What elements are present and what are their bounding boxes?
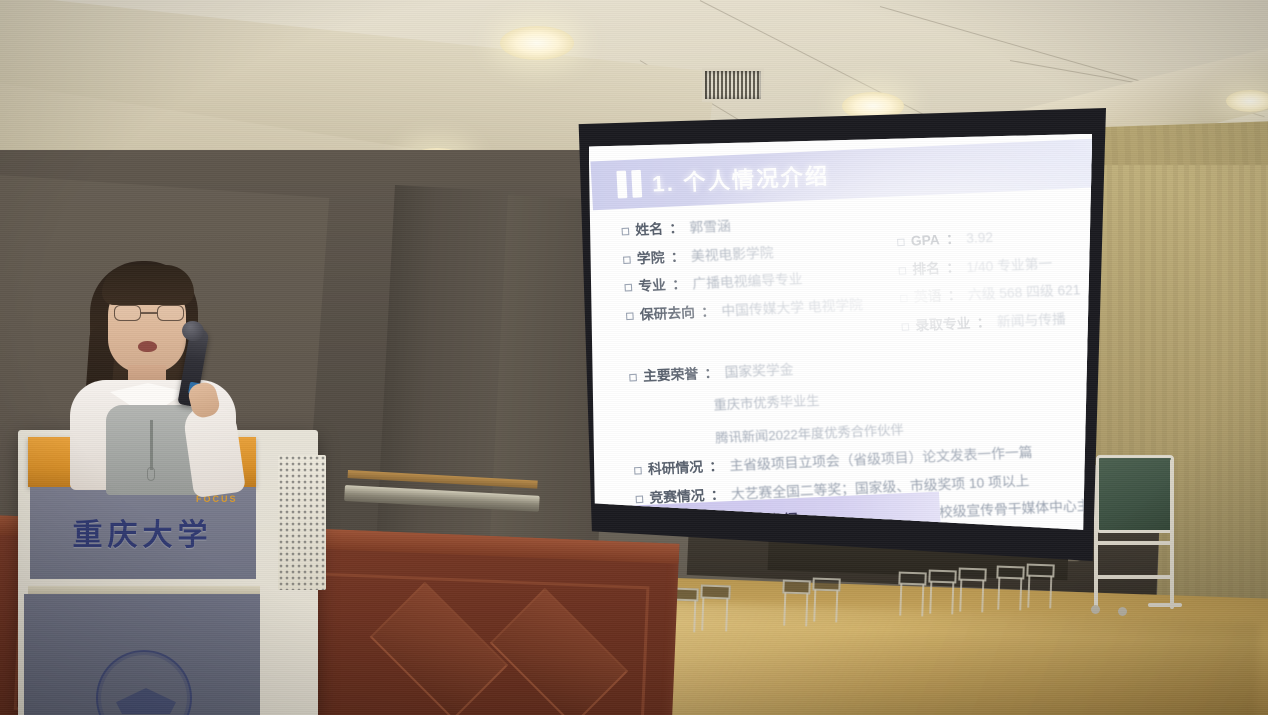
slide-left-column: 姓名 ： 郭雪涵 学院 ： 美视电影学院 xyxy=(621,212,888,360)
slide-honor-item: 腾讯新闻2022年度优秀合作伙伴 xyxy=(714,408,1092,446)
podium-divider xyxy=(28,586,260,594)
slide-bullet: 专业 ： 广播电视编导专业 xyxy=(624,268,884,294)
hair-fringe xyxy=(102,265,194,305)
projection-screen: 1. 个人情况介绍 姓名 ： 郭雪涵 xyxy=(576,108,1106,568)
slide-title: 1. 个人情况介绍 xyxy=(651,159,830,199)
bullet-square-icon xyxy=(635,495,643,503)
vest-zipper-pull xyxy=(147,467,155,481)
slide-bullet: 排名 ： 1/40 专业第一 xyxy=(898,253,1092,277)
presenter xyxy=(62,255,262,465)
bullet-square-icon xyxy=(901,323,909,331)
screen-surface: 1. 个人情况介绍 姓名 ： 郭雪涵 xyxy=(589,134,1093,534)
bullet-square-icon xyxy=(621,227,629,235)
right-arm xyxy=(182,402,246,498)
stacked-chair xyxy=(811,578,841,623)
slide-honor-item: 重庆市优秀毕业生 xyxy=(713,376,1092,414)
hvac-vent-icon xyxy=(702,68,764,102)
slide-bullet: 录取专业 ： 新闻与传播 xyxy=(901,310,1092,334)
mouth xyxy=(138,341,157,352)
slide-right-column: GPA ： 3.92 排名 ： 1/40 专业第一 xyxy=(895,202,1092,347)
bullet-square-icon xyxy=(624,284,632,292)
slide-bullet: GPA ： 3.92 xyxy=(897,225,1093,249)
stacked-chair xyxy=(995,566,1025,611)
stacked-chair xyxy=(699,584,731,631)
bullet-square-icon xyxy=(897,238,905,246)
slide-bullet: 英语 ： 六级 568 四级 621 xyxy=(899,282,1092,306)
stacked-chair xyxy=(1025,564,1055,609)
presentation-slide: 1. 个人情况介绍 姓名 ： 郭雪涵 xyxy=(589,134,1093,534)
presentation-room-photo: 1. 个人情况介绍 姓名 ： 郭雪涵 xyxy=(0,0,1268,715)
slide-header: 1. 个人情况介绍 xyxy=(590,137,1092,210)
podium-speaker-grille xyxy=(278,455,326,590)
chalkboard-surface xyxy=(1096,455,1174,533)
bullet-square-icon xyxy=(629,373,637,381)
vest-zipper xyxy=(150,420,153,470)
bullet-square-icon xyxy=(898,266,906,274)
bullet-square-icon xyxy=(623,256,631,264)
bullet-square-icon xyxy=(634,467,642,475)
stacked-chair xyxy=(781,580,811,627)
university-name: 重庆大学 xyxy=(55,510,230,554)
stacked-chair xyxy=(927,570,957,615)
ceiling-light-icon xyxy=(500,26,574,60)
slide-bullet: 学院 ： 美视电影学院 xyxy=(622,240,882,266)
header-bars-icon xyxy=(616,170,642,199)
slide-body: 姓名 ： 郭雪涵 学院 ： 美视电影学院 xyxy=(593,201,1092,534)
stacked-chair xyxy=(957,568,987,613)
bullet-square-icon xyxy=(626,312,634,320)
bullet-square-icon xyxy=(900,295,908,303)
slide-bullet: 姓名 ： 郭雪涵 xyxy=(621,212,881,238)
ceiling-light-icon xyxy=(1226,90,1268,112)
stacked-chair xyxy=(897,572,927,617)
glasses-icon xyxy=(114,305,184,321)
slide-bullet: 保研去向 ： 中国传媒大学 电视学院 xyxy=(625,296,885,322)
